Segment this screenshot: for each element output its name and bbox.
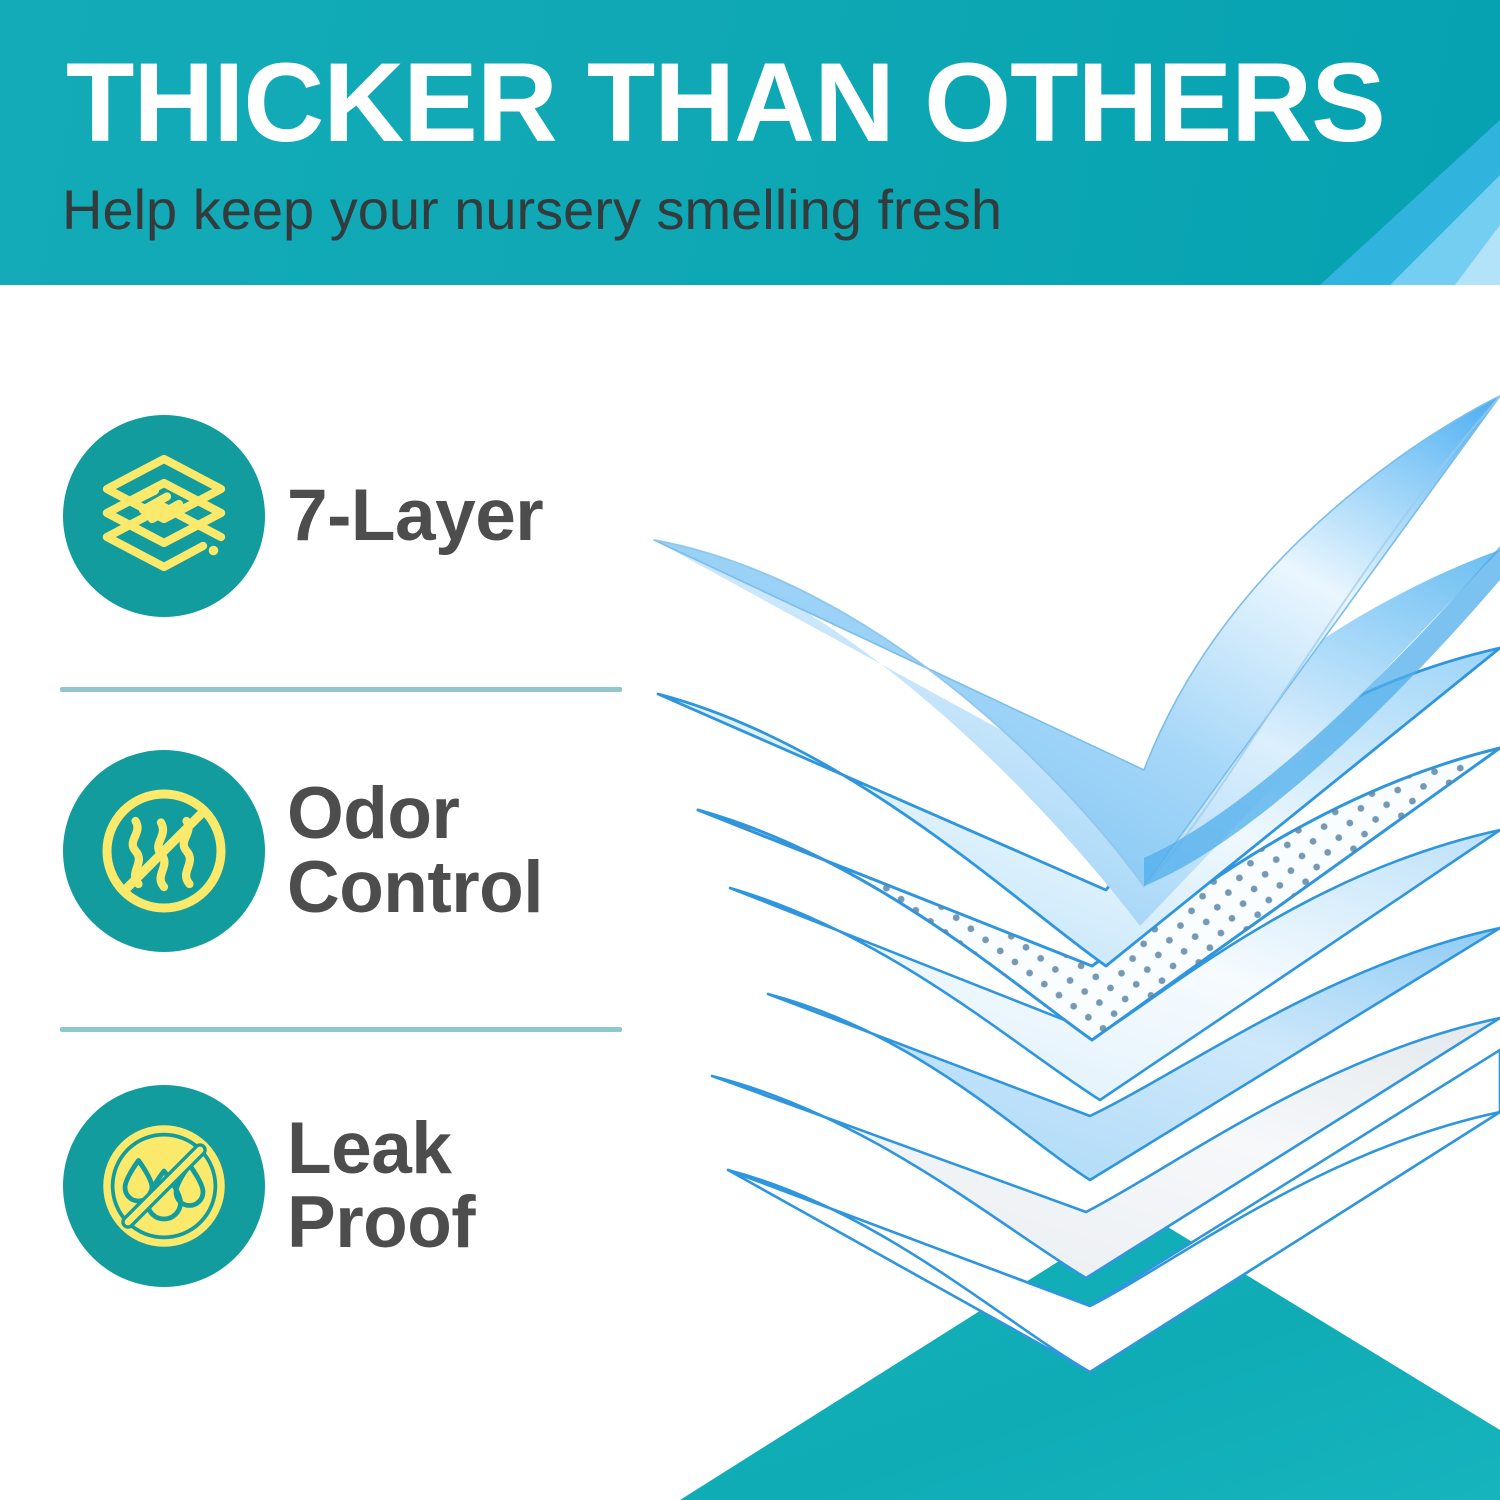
seven-layer-pad-illustration	[620, 250, 1500, 1500]
feature-icon-badge-leak-proof	[63, 1085, 265, 1287]
layers-stack-icon	[89, 441, 239, 591]
no-odor-icon	[89, 776, 239, 926]
feature-label-odor-control: Odor Control	[287, 777, 543, 926]
feature-label-seven-layer: 7-Layer	[287, 479, 543, 553]
header-banner: THICKER THAN OTHERS Help keep your nurse…	[0, 0, 1500, 285]
feature-icon-badge-odor-control	[63, 750, 265, 952]
page-subtitle: Help keep your nursery smelling fresh	[62, 182, 1002, 238]
infographic-root: THICKER THAN OTHERS Help keep your nurse…	[0, 0, 1500, 1500]
feature-list: 7-Layer Odor Control	[0, 285, 660, 1500]
feature-icon-badge-seven-layer	[63, 415, 265, 617]
feature-label-leak-proof: Leak Proof	[287, 1112, 475, 1261]
feature-item-odor-control[interactable]: Odor Control	[0, 750, 543, 952]
page-title: THICKER THAN OTHERS	[66, 47, 1385, 159]
feature-divider-1	[60, 687, 622, 692]
pad-layers-svg	[620, 250, 1500, 1500]
no-leak-droplets-icon	[89, 1111, 239, 1261]
feature-item-leak-proof[interactable]: Leak Proof	[0, 1085, 475, 1287]
feature-divider-2	[60, 1027, 622, 1032]
feature-item-seven-layer[interactable]: 7-Layer	[0, 415, 543, 617]
